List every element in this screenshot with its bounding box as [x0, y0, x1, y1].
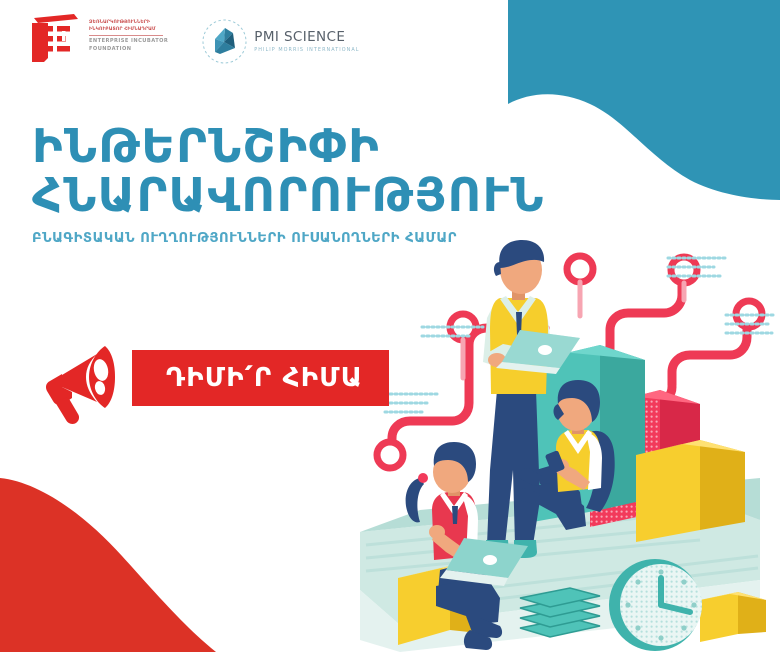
headline-line-2: ՀՆԱՐԱՎՈՐՈՒԹՅՈՒՆ — [32, 171, 545, 220]
headline-block: ԻՆԹԵՐՆՇԻՓԻ ՀՆԱՐԱՎՈՐՈՒԹՅՈՒՆ ԲՆԱԳԻՏԱԿԱՆ ՈՒ… — [32, 122, 545, 246]
platform-steps — [360, 478, 760, 652]
teal-data-block — [516, 345, 645, 525]
flow-node — [567, 256, 593, 282]
seated-woman-with-phone — [517, 380, 614, 530]
step-lines — [366, 512, 758, 610]
yellow-cube-small — [700, 592, 766, 642]
eif-logo[interactable]: ՁԵՌՆԱՐԿՈՒԹՅՈՒՆՆԵՐԻ ԻՆԿՈՒԲԱՏՈՐ ՀԻՄՆԱԴՐԱՄ … — [28, 14, 168, 62]
pink-data-block — [590, 390, 700, 527]
students-illustration — [0, 0, 780, 652]
logo-bar: ՁԵՌՆԱՐԿՈՒԹՅՈՒՆՆԵՐԻ ԻՆԿՈՒԲԱՏՈՐ ՀԻՄՆԱԴՐԱՄ … — [28, 14, 360, 64]
flow-node — [736, 301, 762, 327]
seated-woman-with-laptop — [406, 442, 528, 650]
megaphone-icon — [42, 330, 140, 426]
pmi-science-logo[interactable]: PMI SCIENCE PHILIP MORRIS INTERNATIONAL — [202, 14, 359, 64]
pmi-subtitle: PHILIP MORRIS INTERNATIONAL — [254, 47, 359, 53]
eif-armenian-line-2: ԻՆԿՈՒԲԱՏՈՐ ՀԻՄՆԱԴՐԱՄ — [89, 27, 168, 34]
yellow-cube-seat — [398, 566, 488, 645]
promo-banner: ՁԵՌՆԱՐԿՈՒԹՅՈՒՆՆԵՐԻ ԻՆԿՈՒԲԱՏՈՐ ՀԻՄՆԱԴՐԱՄ … — [0, 0, 780, 652]
headline-line-1: ԻՆԹԵՐՆՇԻՓԻ — [32, 122, 545, 171]
wall-clock — [609, 559, 702, 651]
red-wave-bottom-left — [0, 478, 216, 652]
flow-line-nodes — [377, 256, 762, 468]
clock-ticks — [625, 569, 696, 640]
cta-bar[interactable]: ԴԻՄԻ՛Ր ՀԻՄԱ — [132, 350, 389, 406]
pmi-title: PMI SCIENCE — [254, 31, 359, 45]
pmi-leaf-icon — [202, 19, 247, 64]
paper-stack — [520, 588, 600, 637]
standing-man-with-laptop — [483, 240, 580, 558]
flow-node — [671, 257, 697, 283]
cta-label: ԴԻՄԻ՛Ր ՀԻՄԱ — [166, 365, 363, 391]
teal-wave-top-right — [508, 0, 780, 200]
headline-subtitle: ԲՆԱԳԻՏԱԿԱՆ ՈՒՂՂՈՒԹՅՈՒՆՆԵՐԻ ՈՒՍԱՆՈՂՆԵՐԻ Հ… — [32, 231, 545, 246]
decor-text-lines — [385, 258, 775, 412]
eif-english-line-2: FOUNDATION — [89, 46, 168, 54]
eif-mark-icon — [28, 14, 80, 62]
flow-node — [377, 442, 403, 468]
yellow-data-block-large — [636, 440, 745, 542]
background-decor — [0, 0, 780, 652]
eif-armenian-line-1: ՁԵՌՆԱՐԿՈՒԹՅՈՒՆՆԵՐԻ — [89, 20, 168, 27]
flow-node-stems — [463, 282, 684, 378]
red-flow-line-chart — [392, 280, 747, 452]
eif-divider — [89, 35, 163, 36]
clock-hands — [661, 578, 690, 612]
apply-now-cta[interactable]: ԴԻՄԻ՛Ր ՀԻՄԱ — [42, 330, 389, 426]
eif-english-line-1: ENTERPRISE INCUBATOR — [89, 38, 168, 46]
flow-node — [450, 314, 476, 340]
